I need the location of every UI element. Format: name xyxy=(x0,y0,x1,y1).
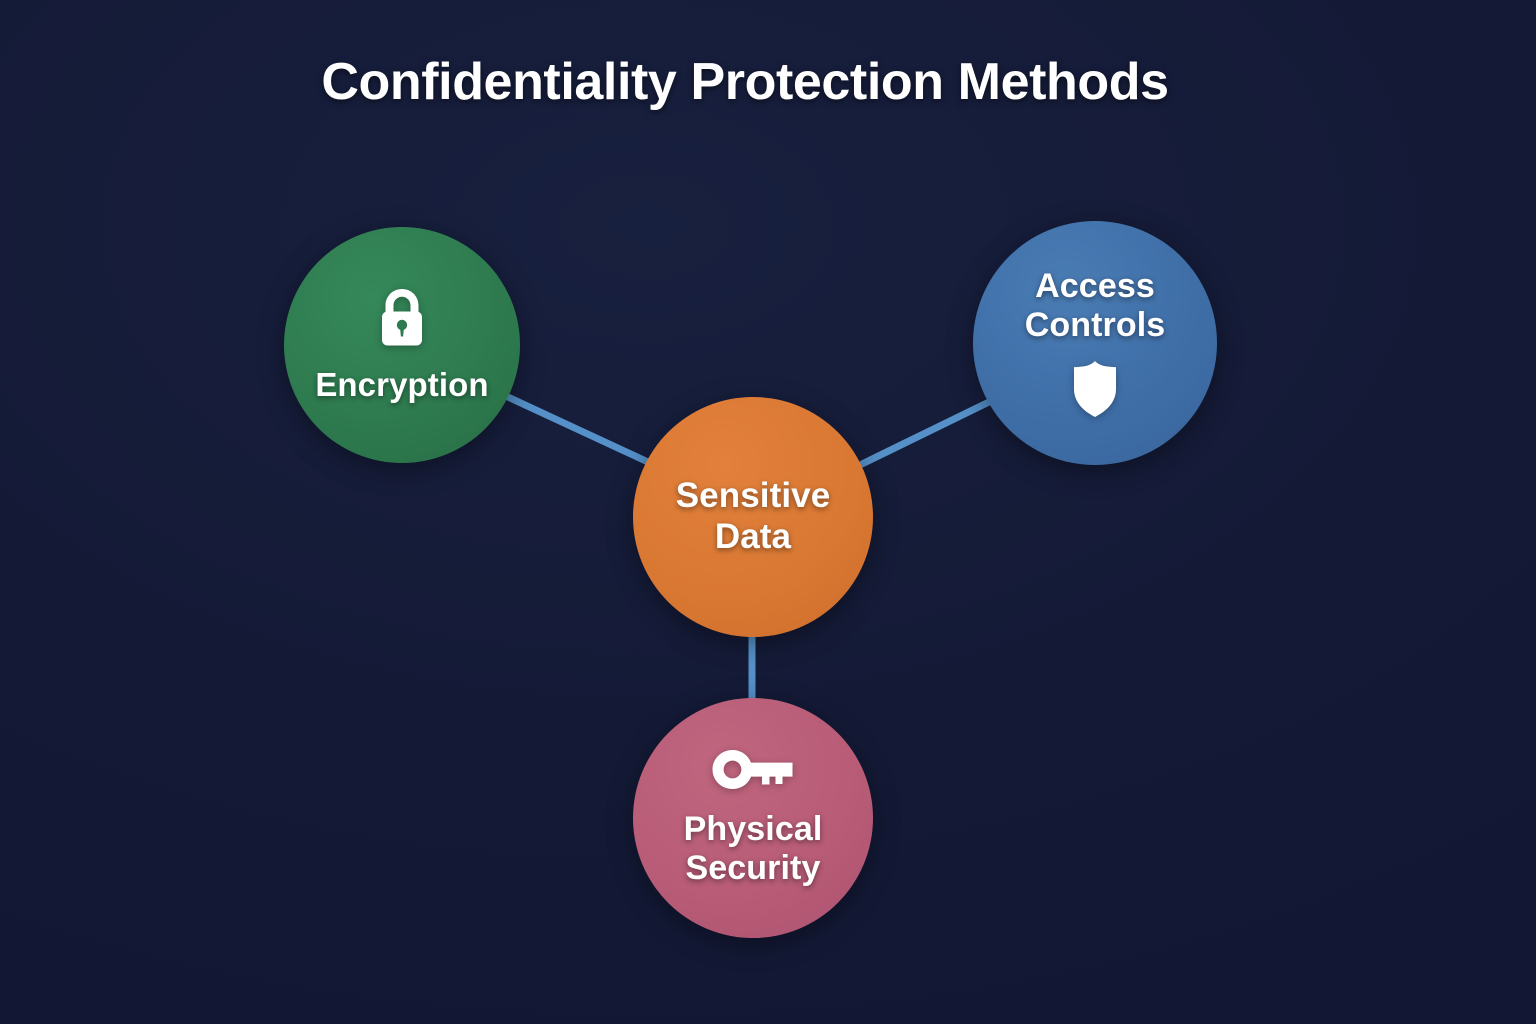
shield-icon xyxy=(1069,359,1121,419)
node-encryption[interactable]: Encryption xyxy=(284,227,520,463)
node-physical-security-label-line2: Security xyxy=(686,849,821,888)
node-encryption-label: Encryption xyxy=(315,366,488,404)
node-sensitive-data[interactable]: Sensitive Data xyxy=(633,397,873,637)
lock-icon xyxy=(376,286,428,348)
edge-sensitive-data-to-access-controls xyxy=(862,401,991,464)
edge-encryption-to-sensitive-data xyxy=(508,397,648,462)
key-icon xyxy=(710,748,796,794)
diagram-canvas: Confidentiality Protection Methods Encry… xyxy=(0,0,1536,1024)
node-physical-security[interactable]: Physical Security xyxy=(633,698,873,938)
node-access-controls-label-line2: Controls xyxy=(1025,306,1166,345)
node-sensitive-data-label-line2: Data xyxy=(715,517,791,558)
node-access-controls-label-line1: Access xyxy=(1035,267,1155,306)
node-sensitive-data-label-line1: Sensitive xyxy=(676,476,831,517)
node-physical-security-label-line1: Physical xyxy=(684,810,823,849)
node-access-controls[interactable]: Access Controls xyxy=(973,221,1217,465)
